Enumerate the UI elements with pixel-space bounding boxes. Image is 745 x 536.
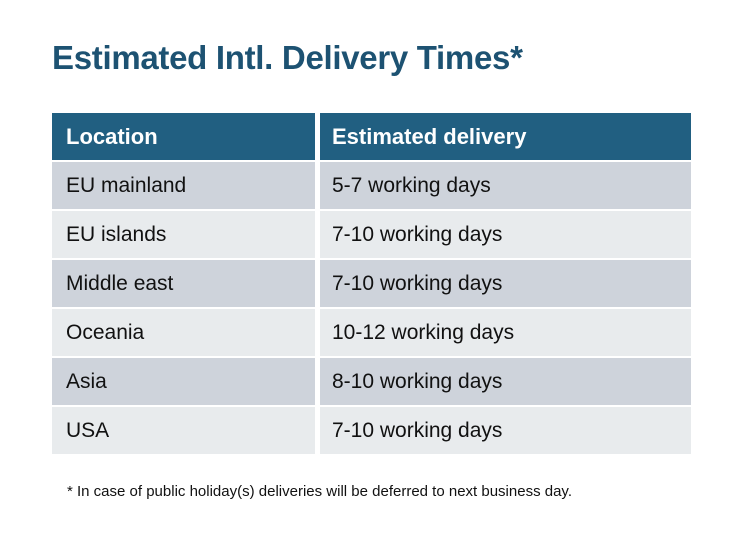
table-row: EU islands 7-10 working days xyxy=(52,211,691,258)
table-row: USA 7-10 working days xyxy=(52,407,691,454)
table-row: Middle east 7-10 working days xyxy=(52,260,691,307)
column-header-estimated-delivery: Estimated delivery xyxy=(320,113,691,160)
table-row: Oceania 10-12 working days xyxy=(52,309,691,356)
document-page: Estimated Intl. Delivery Times* Location… xyxy=(0,0,745,536)
cell-delivery: 7-10 working days xyxy=(320,407,691,454)
cell-location: EU islands xyxy=(52,211,315,258)
cell-location: Oceania xyxy=(52,309,315,356)
cell-delivery: 7-10 working days xyxy=(320,211,691,258)
column-header-location: Location xyxy=(52,113,315,160)
cell-delivery: 10-12 working days xyxy=(320,309,691,356)
cell-location: Asia xyxy=(52,358,315,405)
cell-delivery: 8-10 working days xyxy=(320,358,691,405)
cell-location: USA xyxy=(52,407,315,454)
table-row: Asia 8-10 working days xyxy=(52,358,691,405)
cell-location: Middle east xyxy=(52,260,315,307)
cell-location: EU mainland xyxy=(52,162,315,209)
table-header-row: Location Estimated delivery xyxy=(52,113,691,160)
cell-delivery: 5-7 working days xyxy=(320,162,691,209)
delivery-times-table: Location Estimated delivery EU mainland … xyxy=(52,113,691,456)
cell-delivery: 7-10 working days xyxy=(320,260,691,307)
table-row: EU mainland 5-7 working days xyxy=(52,162,691,209)
footnote-text: * In case of public holiday(s) deliverie… xyxy=(67,482,572,502)
page-title: Estimated Intl. Delivery Times* xyxy=(52,38,523,78)
